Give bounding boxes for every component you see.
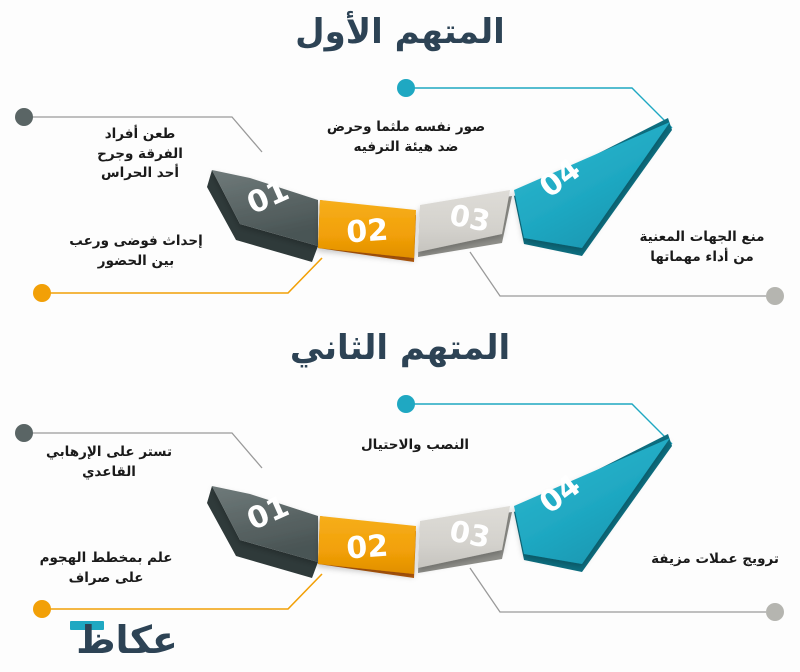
note-top-center: النصب والاحتيال <box>330 436 500 456</box>
okaz-logo-mark: عكاظ <box>52 617 202 663</box>
connector-dot-bottom-left <box>33 284 51 302</box>
connector-dot-top-center <box>397 79 415 97</box>
accused-section-2: المتهم الثاني <box>0 316 800 636</box>
logo-text: عكاظ <box>76 618 178 662</box>
note-top-left: طعن أفراد الفرقة وجرح أحد الحراس <box>60 125 220 184</box>
segment-02-number: 02 <box>345 529 389 567</box>
note-top-left: تستر على الإرهابي القاعدي <box>22 443 196 482</box>
note-bottom-right: ترويج عملات مزيفة <box>630 550 800 570</box>
connector-bottom-right <box>470 568 784 621</box>
connector-dot-bottom-right <box>766 287 784 305</box>
infographic-canvas: المتهم الأول <box>0 0 800 672</box>
connector-dot-top-left <box>15 424 33 442</box>
note-bottom-left: إحداث فوضى ورعب بين الحضور <box>48 232 224 271</box>
segment-04-face <box>514 438 670 564</box>
connector-dot-top-center <box>397 395 415 413</box>
connector-dot-bottom-left <box>33 600 51 618</box>
note-bottom-left: علم بمخطط الهجوم على صراف <box>16 549 196 588</box>
note-bottom-right: منع الجهات المعنية من أداء مهماتها <box>612 228 792 267</box>
connector-dot-top-left <box>15 108 33 126</box>
note-top-center: صور نفسه ملثما وحرض ضد هيئة الترفيه <box>300 118 512 157</box>
accused-section-1: المتهم الأول <box>0 0 800 320</box>
segment-02-number: 02 <box>345 213 389 251</box>
connector-dot-bottom-right <box>766 603 784 621</box>
okaz-logo: عكاظ <box>52 617 202 663</box>
